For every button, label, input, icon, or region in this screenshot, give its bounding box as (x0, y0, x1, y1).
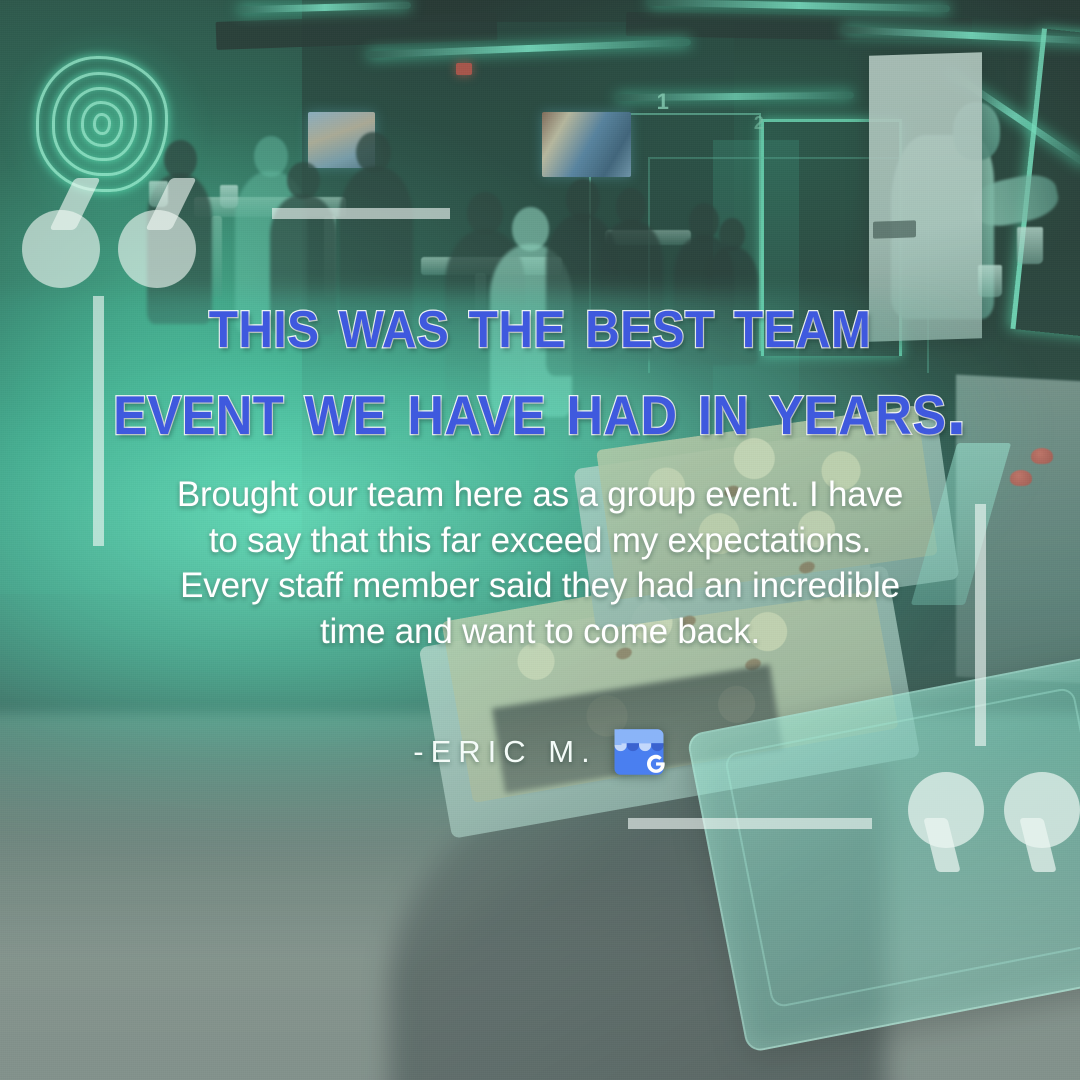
headline-line-1: This was the best team (80, 286, 1000, 359)
testimonial-overlay: This was the best team event we have had… (0, 0, 1080, 1080)
testimonial-attribution: -ERIC M. (0, 724, 1080, 780)
horizontal-rule-bottom (628, 818, 872, 829)
vertical-rule-right (975, 504, 986, 746)
body-line-2: to say that this far exceed my expectati… (140, 518, 940, 564)
testimonial-body: Brought our team here as a group event. … (140, 472, 940, 654)
body-line-3: Every staff member said they had an incr… (140, 563, 940, 609)
testimonial-headline: This was the best team event we have had… (0, 286, 1080, 445)
testimonial-graphic: 1 2 (0, 0, 1080, 1080)
horizontal-rule-top (272, 208, 450, 219)
body-line-1: Brought our team here as a group event. … (140, 472, 940, 518)
google-my-business-icon (611, 724, 667, 780)
reviewer-name: -ERIC M. (413, 734, 596, 770)
body-line-4: time and want to come back. (140, 609, 940, 655)
headline-line-2: event we have had in years. (80, 369, 1000, 445)
